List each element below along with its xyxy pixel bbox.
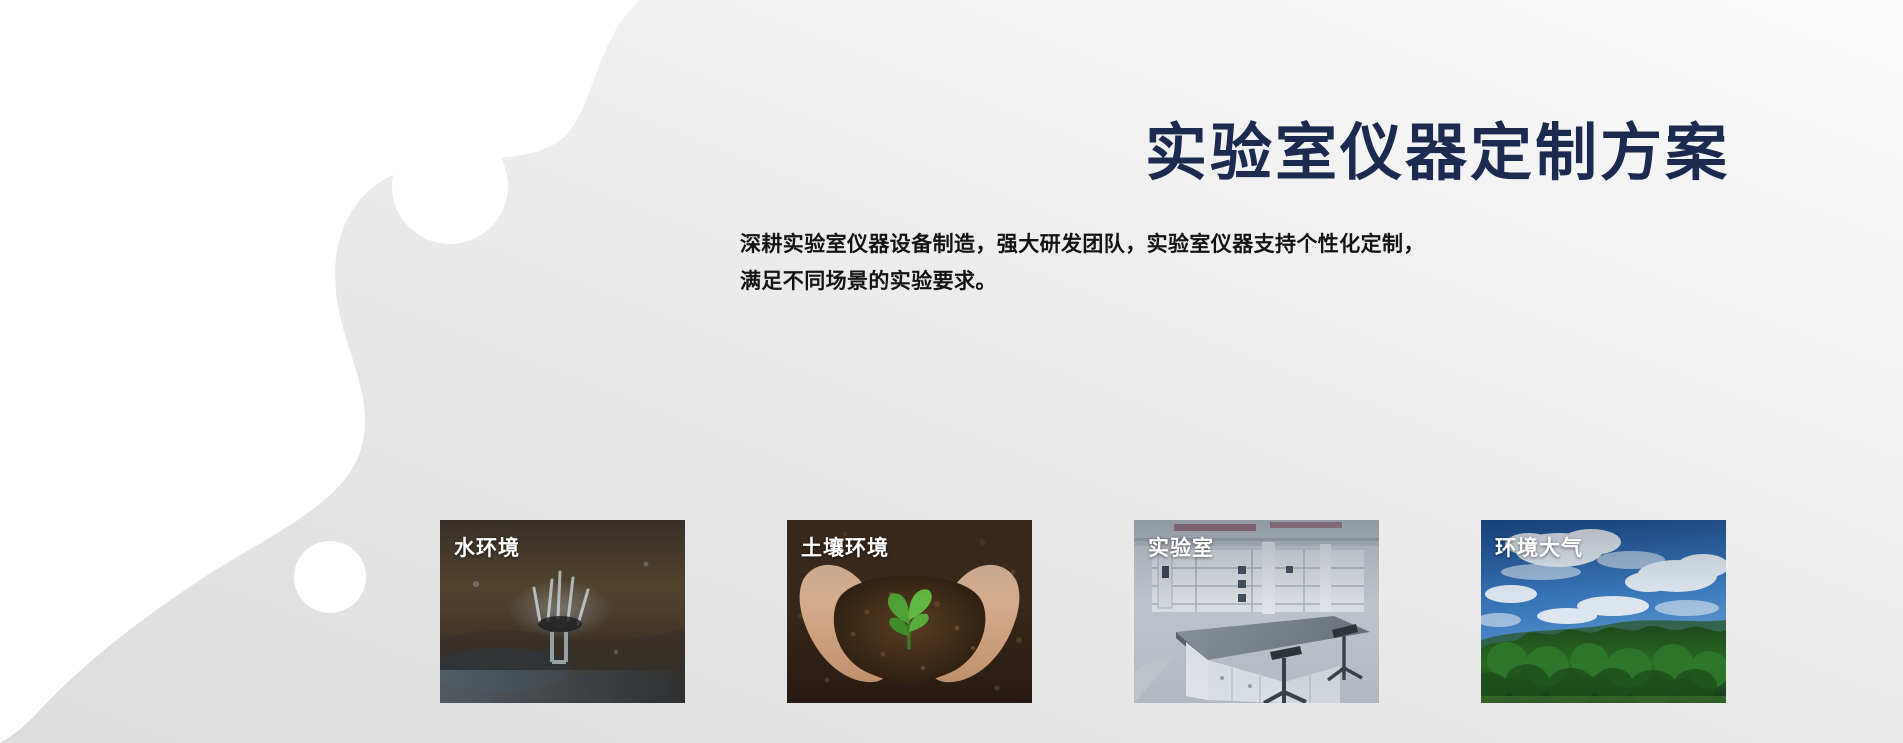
card-label-lab: 实验室 [1148,532,1214,562]
category-card-lab[interactable]: 实验室 [1134,520,1379,703]
card-label-water: 水环境 [454,532,520,562]
hero-subtitle-line-1: 深耕实验室仪器设备制造，强大研发团队，实验室仪器支持个性化定制， [740,227,1720,264]
hero-banner: 实验室仪器定制方案 深耕实验室仪器设备制造，强大研发团队，实验室仪器支持个性化定… [0,0,1903,743]
hero-copy-block: 实验室仪器定制方案 深耕实验室仪器设备制造，强大研发团队，实验室仪器支持个性化定… [740,118,1740,301]
hero-subtitle-line-2: 满足不同场景的实验要求。 [740,264,1720,301]
card-label-soil: 土壤环境 [801,532,889,562]
hero-subtitle: 深耕实验室仪器设备制造，强大研发团队，实验室仪器支持个性化定制， 满足不同场景的… [740,227,1720,301]
card-label-air: 环境大气 [1495,532,1583,562]
category-card-soil[interactable]: 土壤环境 [787,520,1032,703]
category-card-air[interactable]: 环境大气 [1481,520,1726,703]
page-title: 实验室仪器定制方案 [740,118,1740,189]
category-card-strip: 水环境 [440,520,1712,703]
category-card-water[interactable]: 水环境 [440,520,685,703]
